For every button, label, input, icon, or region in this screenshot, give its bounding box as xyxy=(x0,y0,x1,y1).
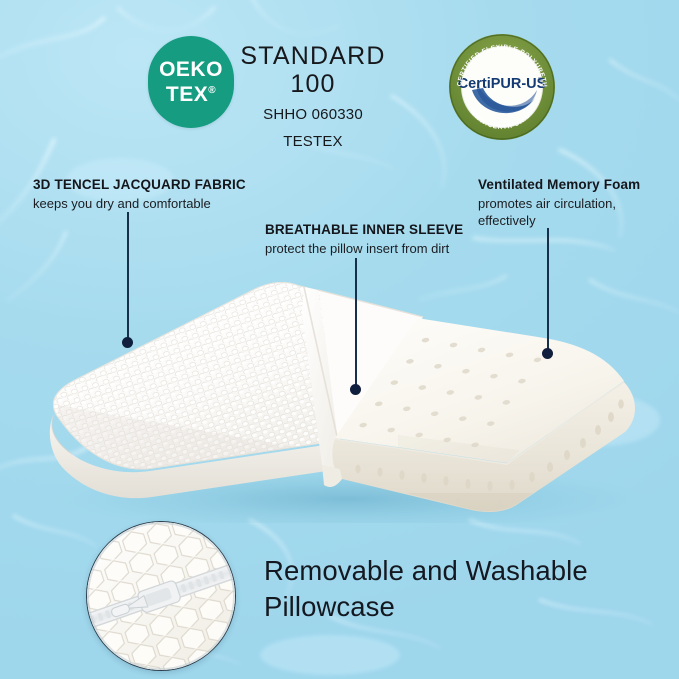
annotation-fabric: 3D TENCEL JACQUARD FABRIC keeps you dry … xyxy=(33,177,246,213)
annotation-foam: Ventilated Memory Foam promotes air circ… xyxy=(478,177,643,230)
annotation-sleeve: BREATHABLE INNER SLEEVE protect the pill… xyxy=(265,222,463,258)
annotation-sleeve-title: BREATHABLE INNER SLEEVE xyxy=(265,222,463,239)
certipur-center-text: CertiPUR-US xyxy=(458,76,547,92)
annotation-foam-title: Ventilated Memory Foam xyxy=(478,177,643,194)
bottom-title-line2: Pillowcase xyxy=(264,589,664,625)
annotation-fabric-subtitle: keeps you dry and comfortable xyxy=(33,196,246,213)
standard-sub-line2: TESTEX xyxy=(238,132,388,152)
zipper-closeup-inset xyxy=(86,521,236,671)
bottom-title-line1: Removable and Washable xyxy=(264,553,664,589)
oeko-tex-line2-text: TEX xyxy=(166,83,208,106)
certipur-us-logo: CertiPUR-US ® CONTAINS CERTIFIED FLEXIBL… xyxy=(447,32,557,142)
oeko-tex-line2: TEX® xyxy=(166,84,216,105)
bottom-title: Removable and Washable Pillowcase xyxy=(264,553,664,626)
standard-sub-line1: SHHO 060330 xyxy=(238,105,388,125)
annotation-foam-subtitle: promotes air circulation, effectively xyxy=(478,196,643,230)
annotation-sleeve-subtitle: protect the pillow insert from dirt xyxy=(265,241,463,258)
oeko-tex-logo: OEKO TEX® xyxy=(148,36,234,128)
oeko-standard-text: STANDARD 100 SHHO 060330 TESTEX xyxy=(238,42,388,152)
standard-title-line2: 100 xyxy=(238,70,388,98)
certification-badges: OEKO TEX® STANDARD 100 SHHO 060330 TESTE… xyxy=(0,0,679,165)
memory-foam-pillow-image xyxy=(18,255,663,523)
infographic-canvas: OEKO TEX® STANDARD 100 SHHO 060330 TESTE… xyxy=(0,0,679,679)
leader-line xyxy=(547,228,549,353)
leader-line xyxy=(355,258,357,389)
oeko-tex-line1: OEKO xyxy=(159,59,223,80)
standard-title-line1: STANDARD xyxy=(238,42,388,70)
registered-mark-icon: ® xyxy=(208,85,216,96)
annotation-fabric-title: 3D TENCEL JACQUARD FABRIC xyxy=(33,177,246,194)
leader-line xyxy=(127,212,129,342)
